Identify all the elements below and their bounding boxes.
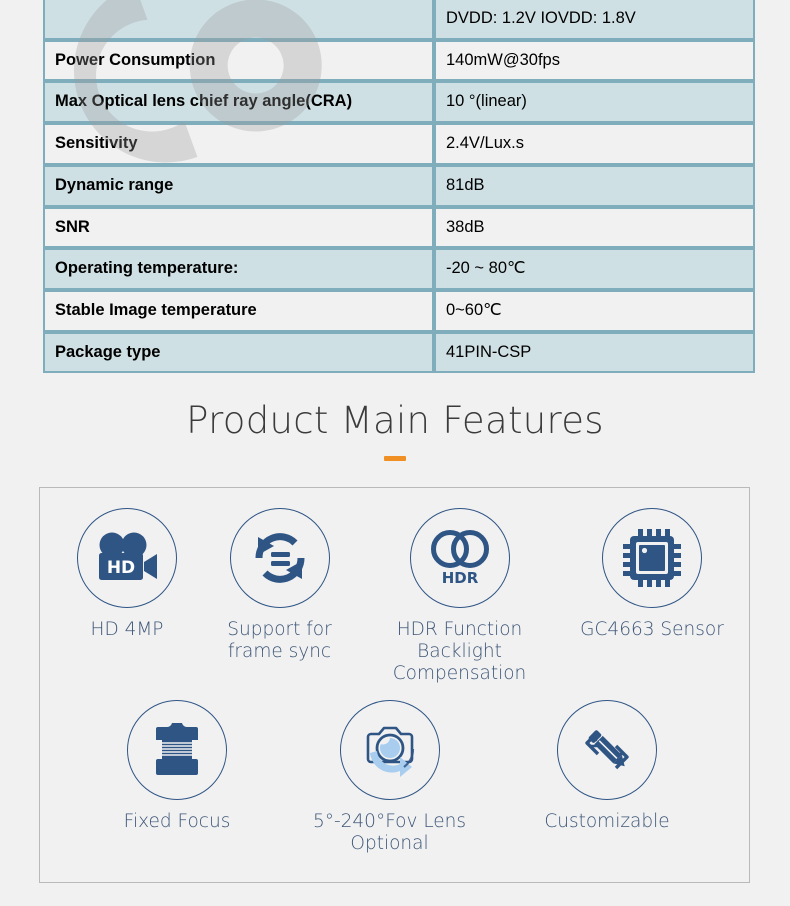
feature-fixed-focus: Fixed Focus	[82, 700, 272, 834]
spec-value: 140mW@30fps	[434, 40, 755, 82]
feature-label: HD 4MP	[50, 619, 205, 642]
spec-value: 81dB	[434, 165, 755, 207]
spec-key: SNR	[43, 207, 434, 249]
spec-key	[43, 0, 434, 40]
spec-value: 38dB	[434, 207, 755, 249]
hdr-rings-icon: HDR	[424, 527, 496, 589]
feature-icon-circle	[340, 700, 440, 800]
spec-key: Power Consumption	[43, 40, 434, 82]
spec-key: Package type	[43, 332, 434, 374]
feature-label: Support for frame sync	[205, 619, 355, 663]
feature-hdr-function: HDR HDR Function Backlight Compensation	[355, 508, 565, 686]
spec-table-body: DVDD: 1.2V IOVDD: 1.8V Power Consumption…	[43, 0, 755, 373]
spec-value: 41PIN-CSP	[434, 332, 755, 374]
pencil-ruler-icon	[577, 720, 637, 780]
sensor-chip-icon	[621, 527, 683, 589]
spec-value: 0~60℃	[434, 290, 755, 332]
specification-table: DVDD: 1.2V IOVDD: 1.8V Power Consumption…	[43, 0, 755, 373]
table-row: Dynamic range 81dB	[43, 165, 755, 207]
hd-badge-text: HD	[107, 558, 135, 578]
spec-key: Operating temperature:	[43, 248, 434, 290]
feature-icon-circle	[602, 508, 702, 608]
table-row: Stable Image temperature 0~60℃	[43, 290, 755, 332]
features-row-2: Fixed Focus 5°-240°Fov Lens Optional	[40, 686, 749, 856]
feature-icon-circle	[230, 508, 330, 608]
spec-key: Stable Image temperature	[43, 290, 434, 332]
spec-value: 2.4V/Lux.s	[434, 123, 755, 165]
table-row: Power Consumption 140mW@30fps	[43, 40, 755, 82]
feature-label: Fixed Focus	[82, 811, 272, 834]
table-row: Max Optical lens chief ray angle(CRA) 10…	[43, 81, 755, 123]
feature-label: GC4663 Sensor	[565, 619, 740, 642]
feature-hd-4mp: HD HD 4MP	[50, 508, 205, 642]
spec-key: Sensitivity	[43, 123, 434, 165]
table-row: DVDD: 1.2V IOVDD: 1.8V	[43, 0, 755, 40]
feature-fov-lens: 5°-240°Fov Lens Optional	[272, 700, 507, 856]
spec-value: -20 ~ 80℃	[434, 248, 755, 290]
table-row: Package type 41PIN-CSP	[43, 332, 755, 374]
feature-icon-circle	[557, 700, 657, 800]
spec-value: 10 °(linear)	[434, 81, 755, 123]
feature-label: HDR Function Backlight Compensation	[355, 619, 565, 686]
table-row: Operating temperature: -20 ~ 80℃	[43, 248, 755, 290]
page-title: Product Main Features	[0, 398, 790, 444]
features-panel: HD HD 4MP Support for frame sync	[39, 487, 750, 883]
feature-icon-circle	[127, 700, 227, 800]
feature-gc4663-sensor: GC4663 Sensor	[565, 508, 740, 642]
hd-video-camera-icon: HD	[94, 532, 160, 584]
hdr-badge-text: HDR	[441, 569, 478, 587]
table-row: SNR 38dB	[43, 207, 755, 249]
accent-rule	[384, 456, 406, 461]
spec-value: DVDD: 1.2V IOVDD: 1.8V	[434, 0, 755, 40]
fixed-focus-lens-icon	[148, 721, 206, 779]
feature-label: Customizable	[507, 811, 707, 834]
table-row: Sensitivity 2.4V/Lux.s	[43, 123, 755, 165]
spec-key: Dynamic range	[43, 165, 434, 207]
features-row-1: HD HD 4MP Support for frame sync	[40, 488, 749, 686]
camera-rotate-lens-icon	[358, 721, 422, 779]
section-heading: Product Main Features	[0, 398, 790, 461]
feature-icon-circle: HDR	[410, 508, 510, 608]
feature-icon-circle: HD	[77, 508, 177, 608]
feature-label: 5°-240°Fov Lens Optional	[272, 811, 507, 856]
frame-sync-arrows-icon	[249, 527, 311, 589]
feature-customizable: Customizable	[507, 700, 707, 834]
feature-frame-sync: Support for frame sync	[205, 508, 355, 663]
spec-key: Max Optical lens chief ray angle(CRA)	[43, 81, 434, 123]
